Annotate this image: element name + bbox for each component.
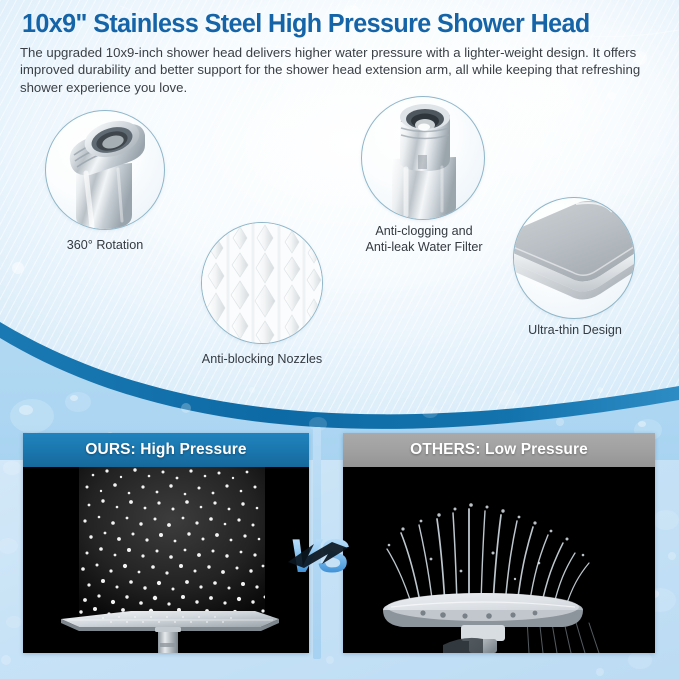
panel-divider (313, 427, 321, 659)
feature-filter-caption: Anti-clogging and Anti-leak Water Filter (349, 224, 499, 255)
swivel-connector-icon (46, 111, 165, 230)
page-title: 10x9" Stainless Steel High Pressure Show… (22, 10, 657, 39)
ours-stage (23, 467, 309, 653)
feature-filter-image (361, 96, 485, 220)
water-filter-icon (362, 97, 485, 220)
round-shower-head-weak-spray (343, 467, 655, 653)
others-heading: OTHERS: Low Pressure (343, 433, 655, 467)
feature-filter: Anti-clogging and Anti-leak Water Filter (361, 96, 531, 246)
feature-rotation-image (45, 110, 165, 230)
feature-rotation: 360° Rotation (45, 110, 205, 250)
page-description: The upgraded 10x9-inch shower head deliv… (20, 44, 660, 96)
square-shower-head-dense-spray (23, 467, 309, 653)
ours-heading: OURS: High Pressure (23, 433, 309, 467)
infographic-page: 10x9" Stainless Steel High Pressure Show… (0, 0, 679, 679)
comparison-panel-others: OTHERS: Low Pressure (343, 433, 655, 653)
comparison-panel-ours: OURS: High Pressure (23, 433, 309, 653)
others-stage (343, 467, 655, 653)
feature-rotation-caption: 360° Rotation (27, 238, 183, 254)
